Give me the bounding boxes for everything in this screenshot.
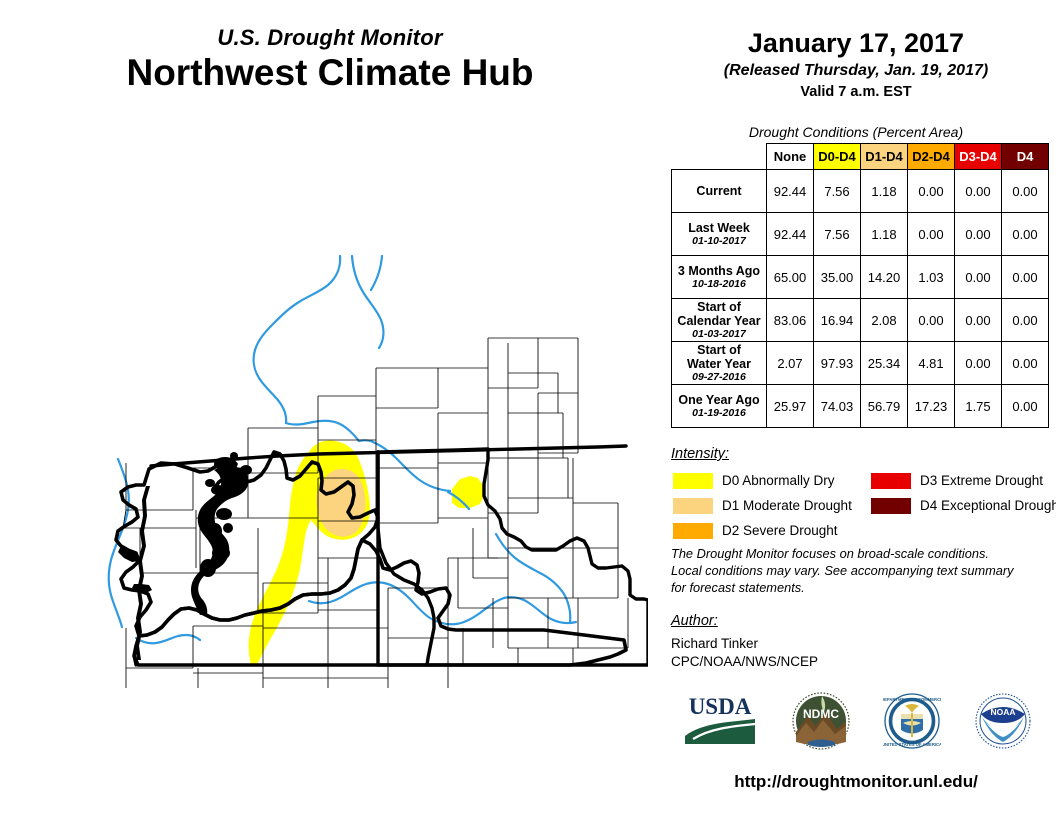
cell-d1-d4: 1.18 — [861, 170, 908, 213]
legend-label-d1: D1 Moderate Drought — [722, 498, 852, 513]
column-header-d0: D0-D4 — [814, 144, 861, 170]
row-label-text: Last Week — [688, 221, 750, 235]
drought-map-svg — [18, 228, 648, 688]
svg-text:DEPARTMENT OF COMMERCE: DEPARTMENT OF COMMERCE — [883, 697, 941, 702]
row-label-date: 09-27-2016 — [672, 372, 766, 384]
legend-swatch-d2 — [673, 523, 713, 539]
release-date: January 17, 2017 — [664, 28, 1048, 59]
row-label-date: 01-03-2017 — [672, 329, 766, 341]
legend-label-d2: D2 Severe Drought — [722, 523, 838, 538]
cell-d0-d4: 74.03 — [814, 385, 861, 428]
d0-area-idaho-panhandle — [452, 476, 484, 508]
drought-map — [18, 228, 648, 688]
row-label: Start ofWater Year09-27-2016 — [672, 342, 767, 385]
author-organization: CPC/NOAA/NWS/NCEP — [671, 654, 818, 669]
row-label-text: Start ofWater Year — [687, 343, 751, 371]
title-block: U.S. Drought Monitor Northwest Climate H… — [0, 26, 660, 95]
cell-none: 83.06 — [767, 299, 814, 342]
page-title: Northwest Climate Hub — [0, 52, 660, 95]
disclaimer-text: The Drought Monitor focuses on broad-sca… — [671, 546, 1021, 597]
map-layer-d0 — [249, 440, 484, 665]
cell-d1-d4: 1.18 — [861, 213, 908, 256]
site-url[interactable]: http://droughtmonitor.unl.edu/ — [664, 772, 1048, 792]
table-caption: Drought Conditions (Percent Area) — [664, 124, 1048, 140]
program-subtitle: U.S. Drought Monitor — [0, 26, 660, 50]
cell-d0-d4: 35.00 — [814, 256, 861, 299]
row-label: Last Week01-10-2017 — [672, 213, 767, 256]
usda-logo: USDA — [681, 692, 759, 750]
cell-d4: 0.00 — [1002, 342, 1049, 385]
table-row: Last Week01-10-201792.447.561.180.000.00… — [672, 213, 1049, 256]
column-header-d4: D4 — [1002, 144, 1049, 170]
column-header-d2: D2-D4 — [908, 144, 955, 170]
row-label-text: 3 Months Ago — [678, 264, 760, 278]
column-header-none: None — [767, 144, 814, 170]
table-row: Current92.447.561.180.000.000.00 — [672, 170, 1049, 213]
legend-label-d3: D3 Extreme Drought — [920, 473, 1043, 488]
row-label: Current — [672, 170, 767, 213]
cell-none: 92.44 — [767, 170, 814, 213]
svg-text:NDMC: NDMC — [803, 707, 839, 721]
cell-d2-d4: 0.00 — [908, 299, 955, 342]
row-label: One Year Ago01-19-2016 — [672, 385, 767, 428]
legend-item-d4: D4 Exceptional Drought — [871, 493, 1056, 518]
cell-d3-d4: 0.00 — [955, 299, 1002, 342]
row-label-text: Start ofCalendar Year — [677, 300, 760, 328]
row-label: Start ofCalendar Year01-03-2017 — [672, 299, 767, 342]
legend-column-left: D0 Abnormally DryD1 Moderate DroughtD2 S… — [673, 468, 852, 543]
legend-swatch-d4 — [871, 498, 911, 514]
ndmc-logo: NDMC — [792, 692, 850, 750]
released-on-line: (Released Thursday, Jan. 19, 2017) — [664, 62, 1048, 80]
cell-d4: 0.00 — [1002, 170, 1049, 213]
legend-swatch-d3 — [871, 473, 911, 489]
date-block: January 17, 2017 (Released Thursday, Jan… — [664, 28, 1048, 100]
commerce-logo: DEPARTMENT OF COMMERCE UNITED STATES OF … — [883, 692, 941, 750]
table-row: Start ofWater Year09-27-20162.0797.9325.… — [672, 342, 1049, 385]
legend-label-d4: D4 Exceptional Drought — [920, 498, 1056, 513]
intensity-legend-header: Intensity: — [671, 446, 729, 462]
cell-d2-d4: 1.03 — [908, 256, 955, 299]
noaa-logo: NOAA — [974, 692, 1032, 750]
table-row: 3 Months Ago10-18-201665.0035.0014.201.0… — [672, 256, 1049, 299]
table-body: Current92.447.561.180.000.000.00Last Wee… — [672, 170, 1049, 428]
cell-d0-d4: 7.56 — [814, 170, 861, 213]
cell-d3-d4: 0.00 — [955, 170, 1002, 213]
legend-label-d0: D0 Abnormally Dry — [722, 473, 835, 488]
table-row: One Year Ago01-19-201625.9774.0356.7917.… — [672, 385, 1049, 428]
cell-d2-d4: 4.81 — [908, 342, 955, 385]
row-label: 3 Months Ago10-18-2016 — [672, 256, 767, 299]
cell-d2-d4: 0.00 — [908, 213, 955, 256]
legend-column-right: D3 Extreme DroughtD4 Exceptional Drought — [871, 468, 1056, 518]
drought-conditions-table: None D0-D4 D1-D4 D2-D4 D3-D4 D4 Current9… — [671, 143, 1049, 428]
row-label-date: 10-18-2016 — [672, 279, 766, 291]
cell-d1-d4: 56.79 — [861, 385, 908, 428]
cell-d4: 0.00 — [1002, 385, 1049, 428]
cell-d1-d4: 14.20 — [861, 256, 908, 299]
cell-d0-d4: 7.56 — [814, 213, 861, 256]
cell-d3-d4: 0.00 — [955, 342, 1002, 385]
column-header-d3: D3-D4 — [955, 144, 1002, 170]
cell-d4: 0.00 — [1002, 299, 1049, 342]
author-header: Author: — [671, 613, 718, 629]
legend-item-d3: D3 Extreme Drought — [871, 468, 1056, 493]
row-label-date: 01-19-2016 — [672, 408, 766, 420]
legend-swatch-d1 — [673, 498, 713, 514]
cell-d2-d4: 17.23 — [908, 385, 955, 428]
legend-swatch-d0 — [673, 473, 713, 489]
cell-none: 65.00 — [767, 256, 814, 299]
valid-time-line: Valid 7 a.m. EST — [664, 84, 1048, 100]
row-label-text: Current — [696, 184, 741, 198]
legend-item-d0: D0 Abnormally Dry — [673, 468, 852, 493]
cell-d4: 0.00 — [1002, 213, 1049, 256]
row-label-text: One Year Ago — [678, 393, 759, 407]
cell-d2-d4: 0.00 — [908, 170, 955, 213]
table-row: Start ofCalendar Year01-03-201783.0616.9… — [672, 299, 1049, 342]
cell-d0-d4: 97.93 — [814, 342, 861, 385]
cell-d4: 0.00 — [1002, 256, 1049, 299]
table-header-row: None D0-D4 D1-D4 D2-D4 D3-D4 D4 — [672, 144, 1049, 170]
state-outline-oregon — [134, 540, 626, 665]
cell-d3-d4: 0.00 — [955, 256, 1002, 299]
svg-text:USDA: USDA — [688, 694, 751, 719]
legend-item-d1: D1 Moderate Drought — [673, 493, 852, 518]
legend-item-d2: D2 Severe Drought — [673, 518, 852, 543]
cell-d3-d4: 1.75 — [955, 385, 1002, 428]
cell-d0-d4: 16.94 — [814, 299, 861, 342]
cell-d1-d4: 25.34 — [861, 342, 908, 385]
table-corner-cell — [672, 144, 767, 170]
logo-bar: USDA NDMC DEPARTMENT OF COMMERCE UNITED … — [664, 692, 1048, 750]
column-header-d1: D1-D4 — [861, 144, 908, 170]
cell-none: 25.97 — [767, 385, 814, 428]
cell-none: 92.44 — [767, 213, 814, 256]
row-label-date: 01-10-2017 — [672, 236, 766, 248]
cell-none: 2.07 — [767, 342, 814, 385]
svg-text:NOAA: NOAA — [990, 707, 1015, 717]
svg-text:UNITED STATES OF AMERICA: UNITED STATES OF AMERICA — [883, 742, 941, 747]
cell-d1-d4: 2.08 — [861, 299, 908, 342]
cell-d3-d4: 0.00 — [955, 213, 1002, 256]
author-name: Richard Tinker — [671, 636, 758, 651]
